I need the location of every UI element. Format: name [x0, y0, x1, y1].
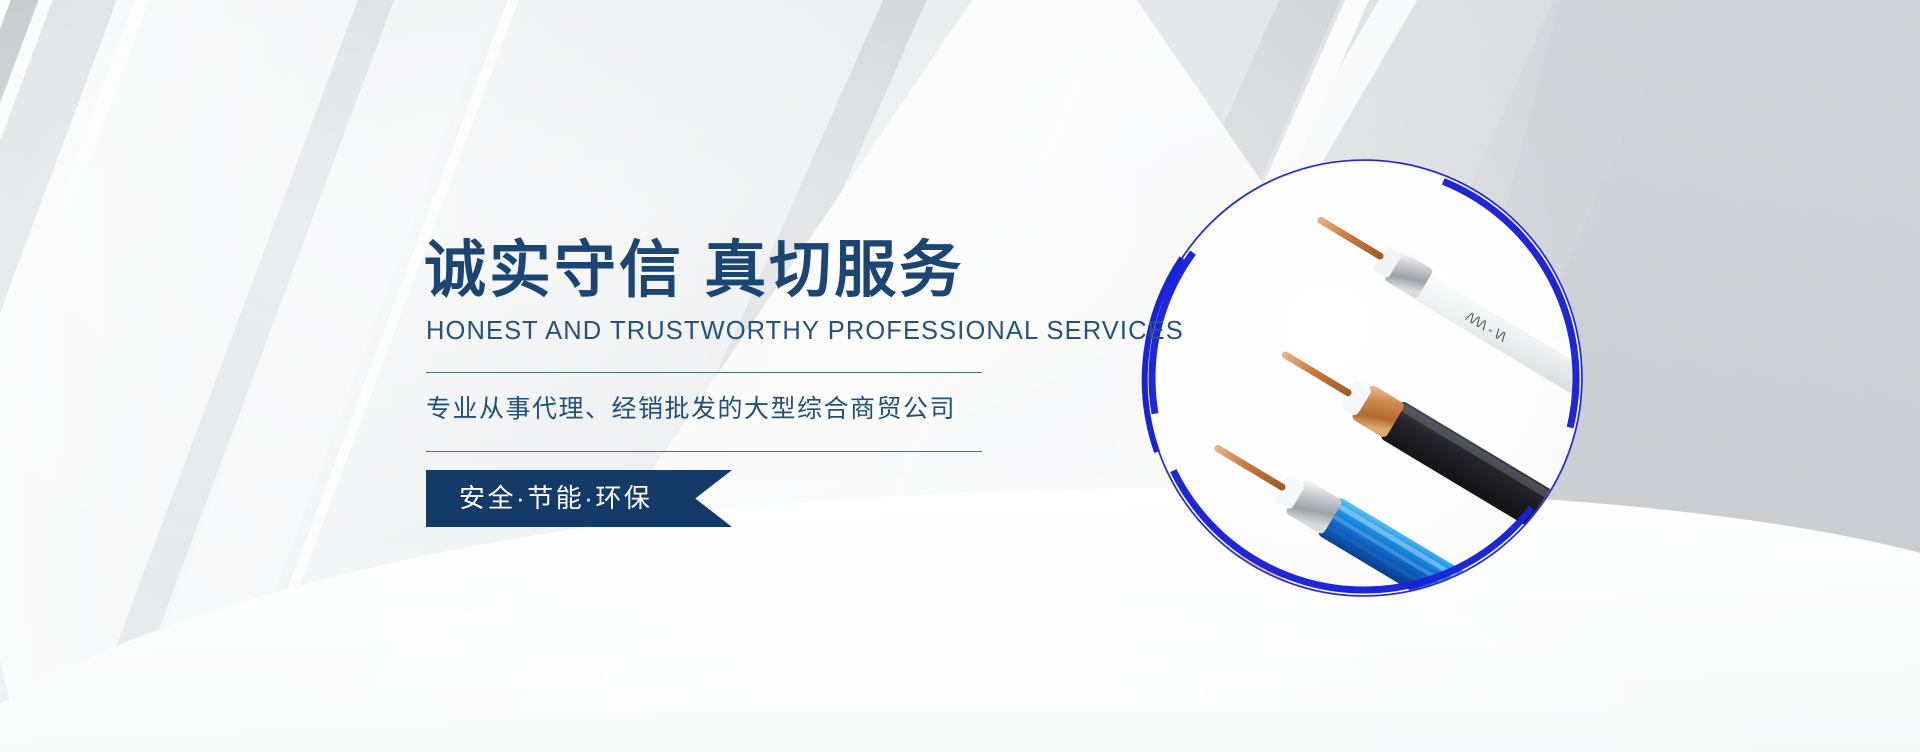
company-tagline: 专业从事代理、经销批发的大型综合商贸公司 — [426, 389, 1064, 425]
circle-ring-accent-icon — [1138, 152, 1590, 604]
hero-banner: /\/\/\ - \/\ — [0, 0, 1920, 752]
page-subtitle: HONEST AND TRUSTWORTHY PROFESSIONAL SERV… — [426, 317, 1064, 346]
status-badge: 安全·节能·环保 — [426, 470, 732, 527]
page-title: 诚实守信 真切服务 — [424, 238, 1064, 305]
ribbon-badge-wrapper: 安全·节能·环保 — [426, 452, 732, 527]
product-photo-ring: /\/\/\ - \/\ — [1138, 152, 1590, 604]
banner-text-block: 诚实守信 真切服务 HONEST AND TRUSTWORTHY PROFESS… — [424, 238, 1064, 527]
divider-top — [426, 372, 982, 373]
